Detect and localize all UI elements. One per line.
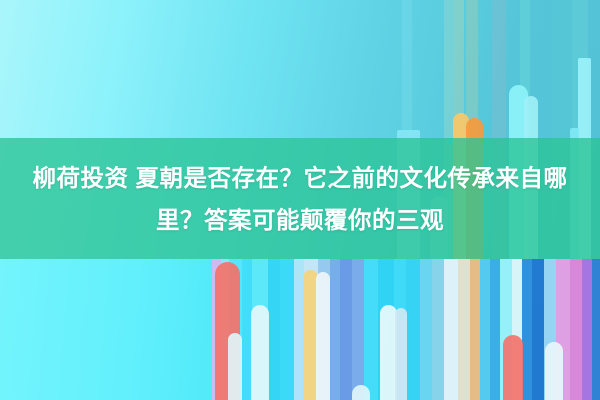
lower-stripe: [592, 259, 600, 400]
lower-stripe: [444, 259, 458, 400]
lower-bar: [228, 333, 242, 400]
lower-stripe: [432, 259, 444, 400]
lower-stripe: [364, 259, 378, 400]
lower-stripe: [458, 259, 470, 400]
lower-stripe: [420, 259, 432, 400]
lower-stripe: [352, 259, 364, 400]
lower-stripe: [522, 259, 532, 400]
lower-stripe: [280, 259, 294, 400]
lower-bar: [545, 342, 563, 400]
page-title: 柳荷投资 夏朝是否存在？它之前的文化传承来自哪里？答案可能颠覆你的三观: [0, 138, 600, 259]
lower-stripe: [268, 259, 280, 400]
lower-stripe: [532, 259, 544, 400]
lower-stripe: [340, 259, 352, 400]
lower-bar: [352, 385, 370, 400]
lower-stripe: [480, 259, 490, 400]
lower-stripe: [330, 259, 340, 400]
lower-bar: [503, 335, 523, 400]
banner-image: 柳荷投资 夏朝是否存在？它之前的文化传承来自哪里？答案可能颠覆你的三观: [0, 0, 600, 400]
lower-stripe: [570, 259, 582, 400]
lower-bar: [251, 305, 269, 400]
lower-stripe: [582, 259, 592, 400]
lower-stripe: [406, 259, 420, 400]
lower-bar: [395, 308, 407, 400]
lower-stripe: [470, 259, 480, 400]
lower-stripe: [490, 259, 500, 400]
lower-bar: [316, 272, 330, 400]
